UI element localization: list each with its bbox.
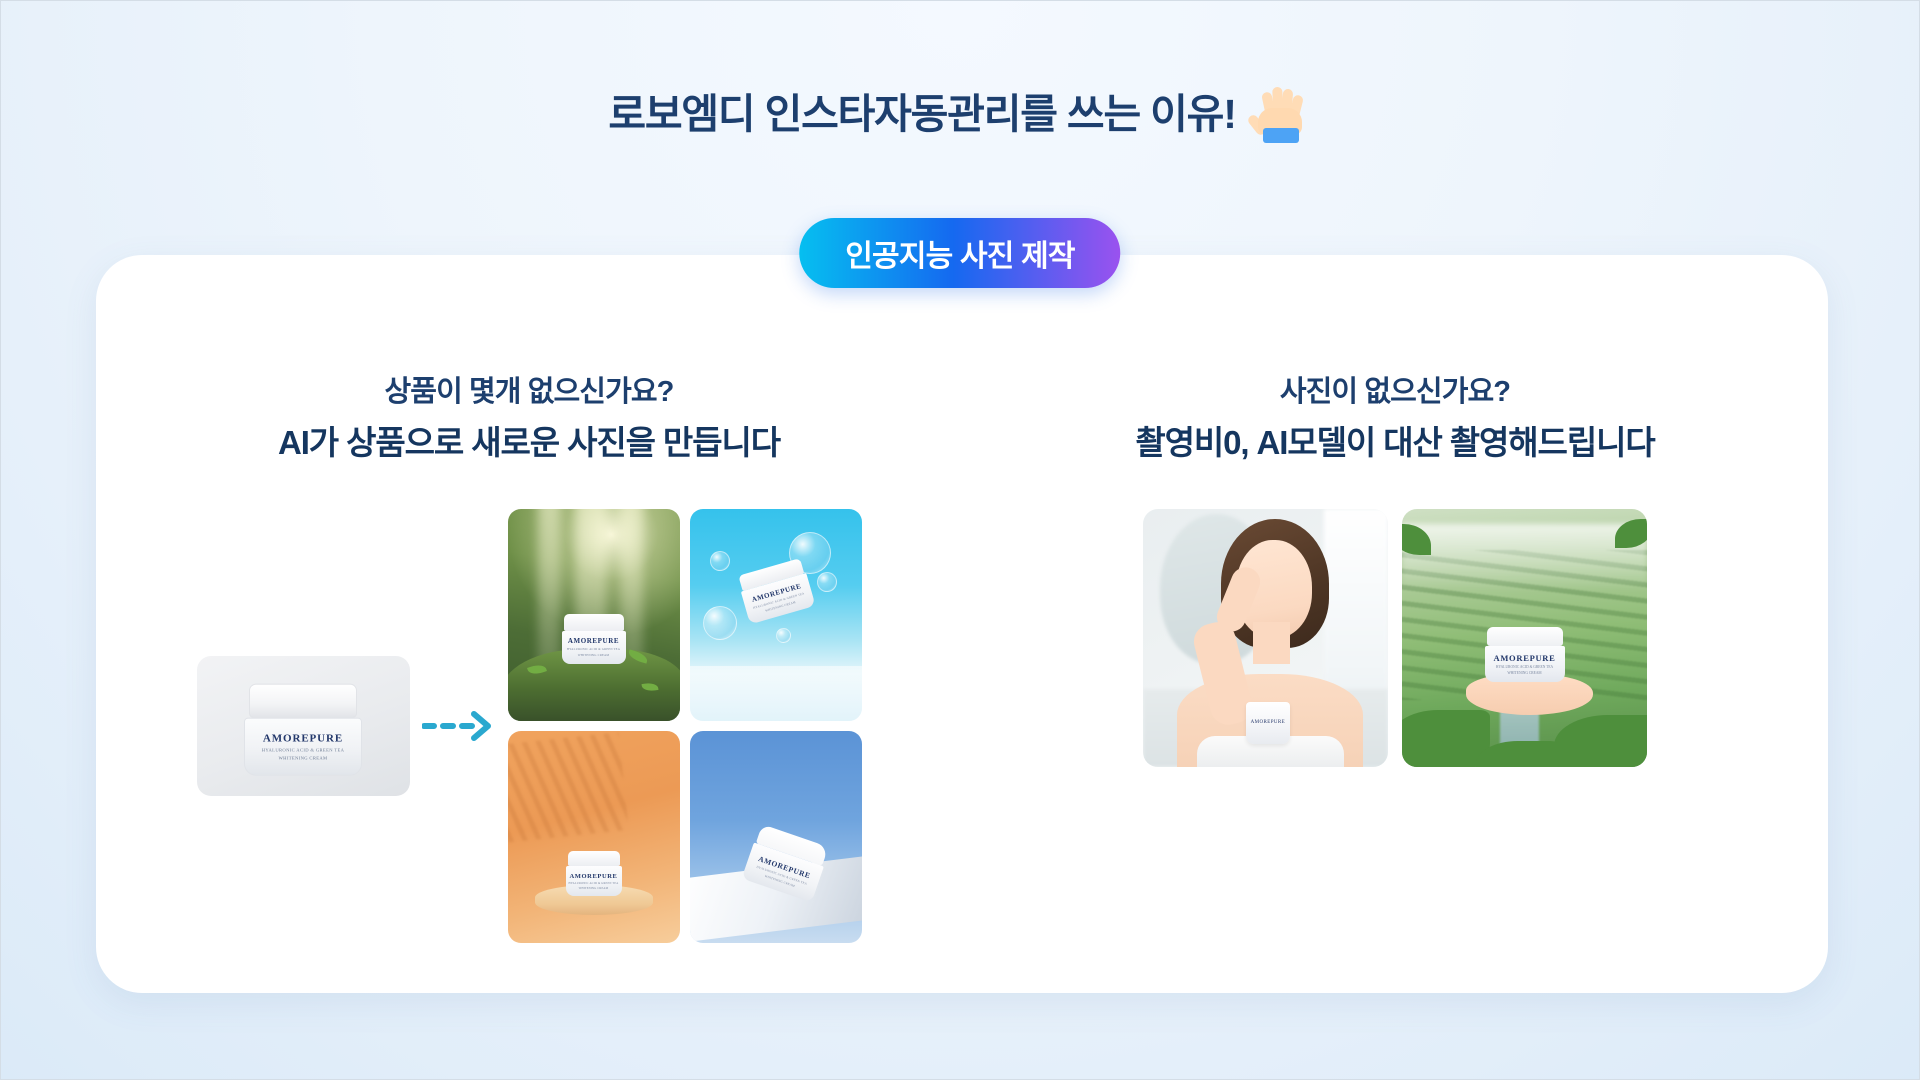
- jar-in-forest: AMOREPURE HYALURONIC ACID & GREEN TEA WH…: [564, 614, 624, 664]
- section-badge[interactable]: 인공지능 사진 제작: [799, 218, 1120, 288]
- jar-line-1: HYALURONIC ACID & GREEN TEA: [569, 882, 619, 885]
- page-header: 로보엠디 인스타자동관리를 쓰는 이유!: [0, 78, 1920, 142]
- jar-lid: [249, 683, 357, 717]
- generated-image-water[interactable]: AMOREPURE HYALURONIC ACID & GREEN TEA WH…: [690, 509, 862, 721]
- jar-lid: [568, 851, 620, 866]
- tea-field-jar: AMOREPURE HYALURONIC ACID & GREEN TEA WH…: [1487, 627, 1563, 682]
- right-column-headings: 사진이 없으신가요? 촬영비0, AI모델이 대산 촬영해드립니다: [1135, 373, 1654, 465]
- feature-card: 상품이 몇개 없으신가요? AI가 상품으로 새로운 사진을 만듭니다 AMOR…: [96, 255, 1828, 993]
- model-held-jar: AMOREPURE: [1246, 702, 1290, 744]
- generated-image-sky[interactable]: AMOREPURE HYALURONIC ACID & GREEN TEA WH…: [690, 731, 862, 943]
- generated-image-podium[interactable]: AMOREPURE HYALURONIC ACID & GREEN TEA WH…: [508, 731, 680, 943]
- jar-brand: AMOREPURE: [1493, 653, 1555, 663]
- jar-line-2: WHITENING CREAM: [579, 887, 609, 890]
- dashed-arrow-right-icon: [422, 706, 496, 746]
- left-column-headings: 상품이 몇개 없으신가요? AI가 상품으로 새로운 사진을 만듭니다: [278, 373, 780, 465]
- jar-brand: AMOREPURE: [1251, 720, 1285, 725]
- left-question: 상품이 몇개 없으신가요?: [278, 373, 780, 411]
- column-ai-model-photo: 사진이 없으신가요? 촬영비0, AI모델이 대산 촬영해드립니다 AMOREP…: [962, 255, 1828, 993]
- page-title: 로보엠디 인스타자동관리를 쓰는 이유!: [608, 80, 1235, 140]
- left-visual: AMOREPURE HYALURONIC ACID & GREEN TEA WH…: [197, 509, 862, 943]
- jar-line-1: HYALURONIC ACID & GREEN TEA: [1496, 665, 1553, 669]
- jar-lid: [564, 614, 624, 631]
- section-badge-label: 인공지능 사진 제작: [845, 231, 1074, 275]
- generated-image-forest[interactable]: AMOREPURE HYALURONIC ACID & GREEN TEA WH…: [508, 509, 680, 721]
- jar-line-1: HYALURONIC ACID & GREEN TEA: [567, 647, 620, 651]
- tea-field-photo[interactable]: AMOREPURE HYALURONIC ACID & GREEN TEA WH…: [1402, 509, 1647, 767]
- jar-line-1: HYALURONIC ACID & GREEN TEA: [262, 747, 345, 752]
- jar-on-podium: AMOREPURE HYALURONIC ACID & GREEN TEA WH…: [568, 851, 620, 896]
- jar-line-2: WHITENING CREAM: [578, 653, 610, 657]
- jar-body: AMOREPURE HYALURONIC ACID & GREEN TEA WH…: [1485, 646, 1565, 682]
- left-answer: AI가 상품으로 새로운 사진을 만듭니다: [278, 421, 780, 465]
- generated-images-grid: AMOREPURE HYALURONIC ACID & GREEN TEA WH…: [508, 509, 862, 943]
- source-product-photo[interactable]: AMOREPURE HYALURONIC ACID & GREEN TEA WH…: [197, 656, 410, 796]
- jar-body: AMOREPURE HYALURONIC ACID & GREEN TEA WH…: [566, 866, 622, 896]
- jar-brand: AMOREPURE: [569, 873, 617, 880]
- raised-hand-icon: [1250, 81, 1312, 143]
- jar-line-2: WHITENING CREAM: [1507, 671, 1541, 675]
- jar-in-water: AMOREPURE HYALURONIC ACID & GREEN TEA WH…: [738, 558, 813, 624]
- jar-lid: [1487, 627, 1563, 646]
- jar-body: AMOREPURE HYALURONIC ACID & GREEN TEA WH…: [244, 717, 362, 775]
- jar-body: AMOREPURE HYALURONIC ACID & GREEN TEA WH…: [562, 631, 626, 664]
- right-visual: AMOREPURE AMOREPURE HYALURONIC ACID & GR: [1143, 509, 1647, 767]
- jar-brand: AMOREPURE: [263, 732, 343, 744]
- product-jar: AMOREPURE HYALURONIC ACID & GREEN TEA WH…: [249, 683, 357, 775]
- jar-line-2: WHITENING CREAM: [278, 755, 327, 760]
- right-question: 사진이 없으신가요?: [1135, 373, 1654, 411]
- column-ai-product-photo: 상품이 몇개 없으신가요? AI가 상품으로 새로운 사진을 만듭니다 AMOR…: [96, 255, 962, 993]
- model-photo-bathroom[interactable]: AMOREPURE: [1143, 509, 1388, 767]
- right-answer: 촬영비0, AI모델이 대산 촬영해드립니다: [1135, 421, 1654, 465]
- jar-brand: AMOREPURE: [568, 637, 619, 645]
